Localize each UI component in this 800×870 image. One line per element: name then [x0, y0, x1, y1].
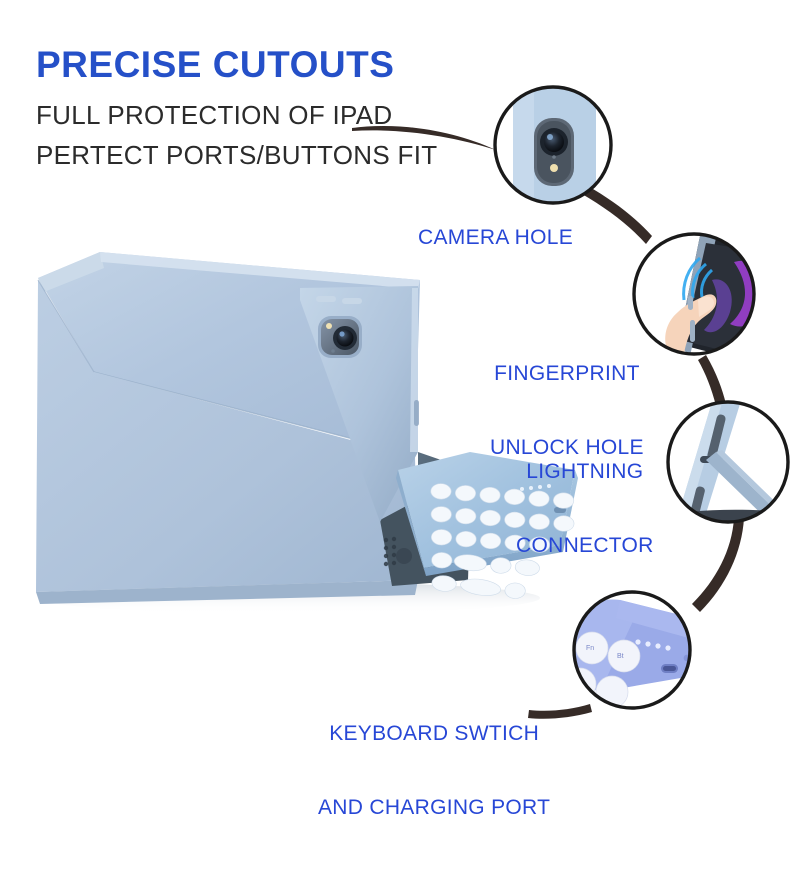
callout-label-keyboard-switch: KEYBOARD SWTICH AND CHARGING PORT — [318, 672, 550, 870]
callout-circle-fingerprint — [634, 234, 790, 366]
svg-text:Bt: Bt — [617, 653, 624, 660]
subtitle-line-1: FULL PROTECTION OF IPAD — [36, 100, 393, 131]
callout-circle-camera — [495, 87, 611, 206]
svg-text:Fn: Fn — [586, 645, 594, 652]
link-camera-fingerprint — [582, 186, 652, 244]
callout-label-keyboard-line1: KEYBOARD SWTICH — [318, 722, 550, 747]
callout-label-lightning-line1: LIGHTNING — [516, 460, 654, 485]
volume-down-button — [342, 298, 362, 304]
camera-cutout — [318, 316, 362, 358]
callout-label-camera-hole: CAMERA HOLE — [418, 226, 573, 251]
link-lightning-keyboard — [692, 518, 744, 612]
callout-circle-keyboard: Fn Bt Alt — [564, 592, 700, 708]
camera-flash-icon — [326, 323, 332, 329]
link-fingerprint-lightning — [698, 355, 726, 406]
page-title: PRECISE CUTOUTS — [36, 44, 394, 86]
callout-label-lightning-line2: CONNECTOR — [516, 534, 654, 559]
callout-label-lightning-connector: LIGHTNING CONNECTOR — [516, 410, 654, 608]
callout-label-fingerprint-line1: FINGERPRINT — [490, 362, 644, 387]
stand-hinge-button — [396, 548, 412, 564]
volume-up-button — [316, 296, 336, 302]
svg-text:Alt: Alt — [573, 681, 581, 688]
callout-circle-lightning — [660, 402, 800, 540]
infographic-canvas: Fn Bt Alt PRECISE CUTOUTS FULL PROTECTIO… — [0, 0, 800, 800]
subtitle-line-2: PERTECT PORTS/BUTTONS FIT — [36, 140, 437, 171]
